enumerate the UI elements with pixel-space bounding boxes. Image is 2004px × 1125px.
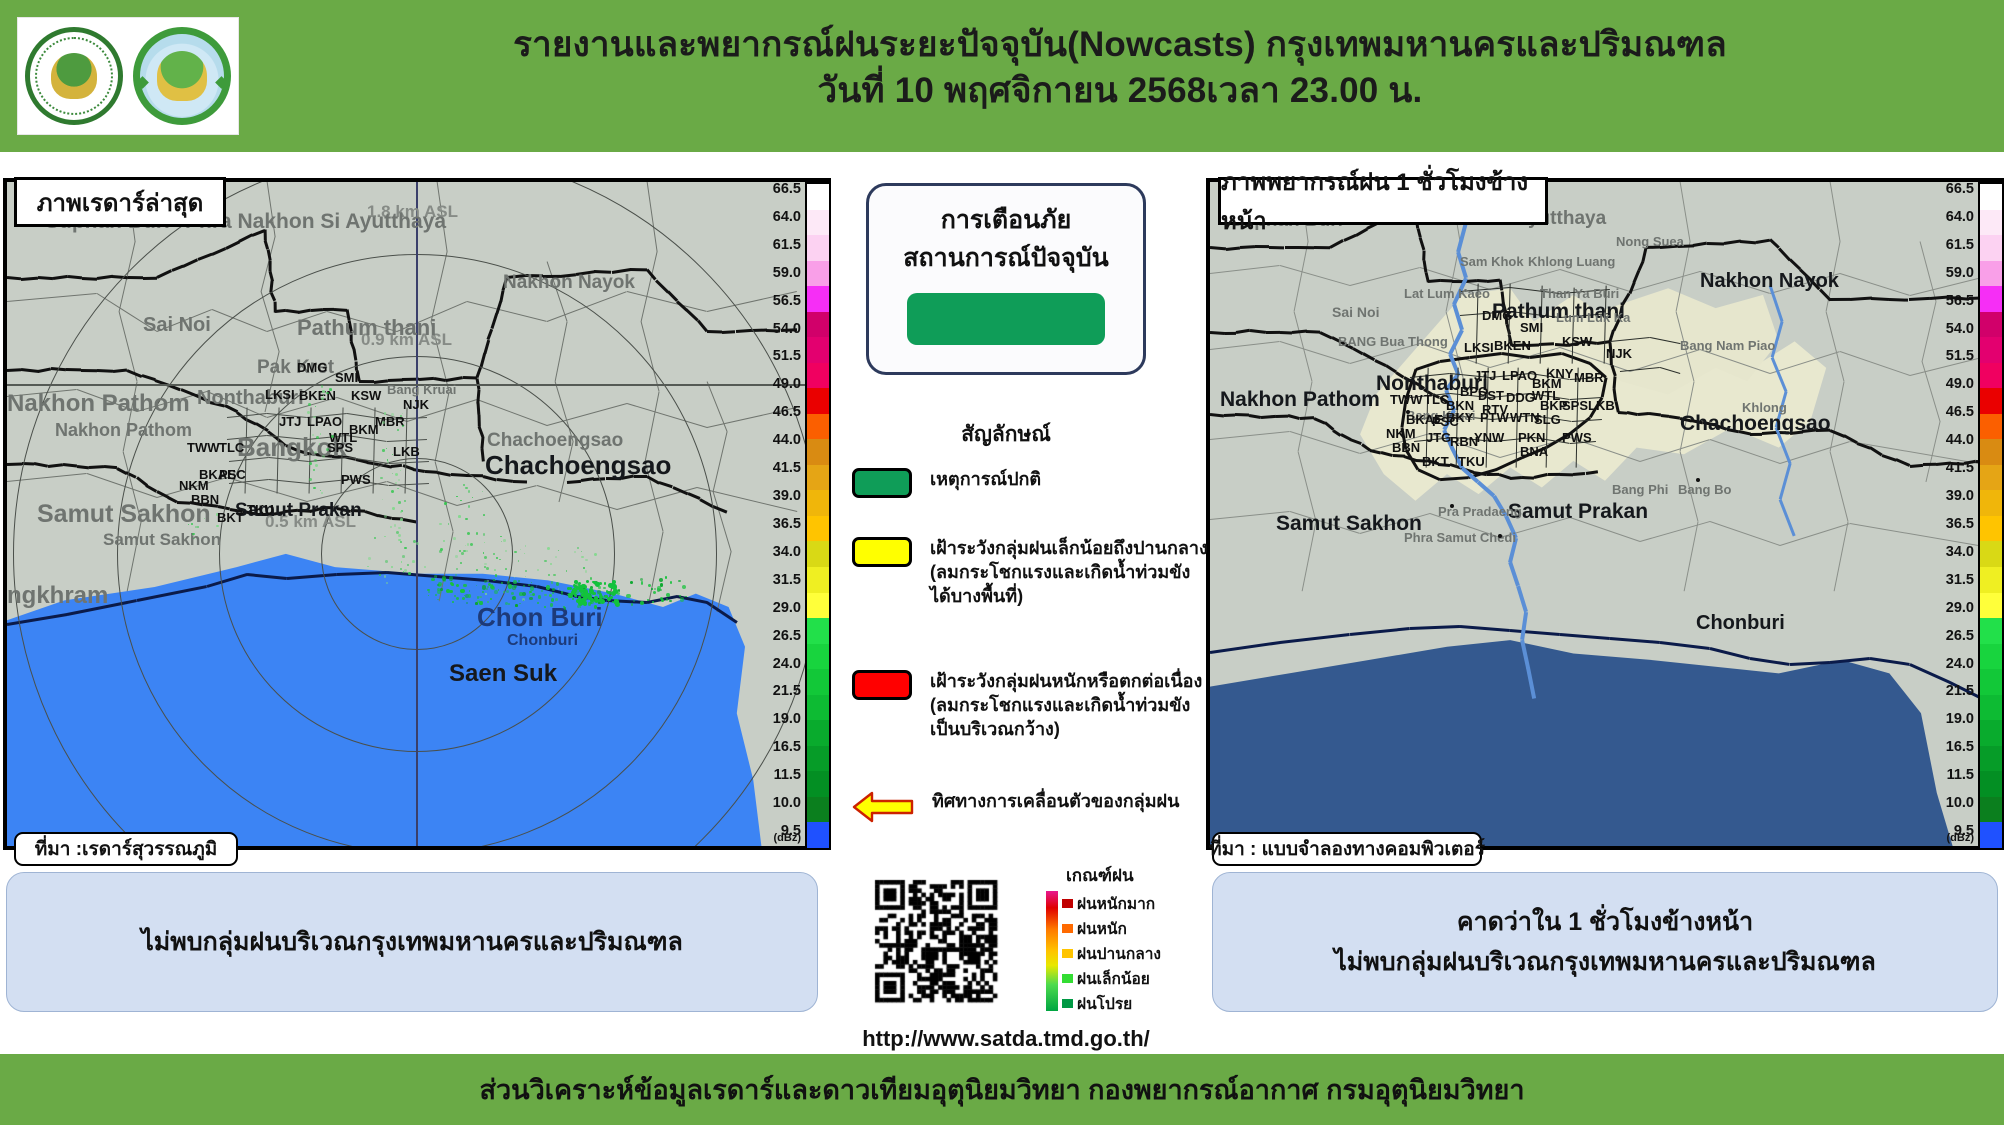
province-border	[1560, 473, 1574, 476]
dbz-tick: 16.5	[1920, 740, 1974, 755]
dbz-color-segment	[1980, 490, 2002, 516]
radar-echo	[400, 518, 403, 521]
dbz-tick: 36.5	[1920, 517, 1974, 532]
city-marker-dot	[1406, 410, 1410, 414]
footer-text: ส่วนวิเคราะห์ข้อมูลเรดาร์และดาวเทียมอุตุ…	[479, 1068, 1524, 1111]
radar-axis-vertical	[416, 182, 418, 846]
city-marker-dot	[1450, 504, 1454, 508]
dbz-color-bar	[1978, 182, 2004, 846]
radar-echo	[444, 502, 446, 504]
dbz-tick: 31.5	[1920, 573, 1974, 588]
dbz-color-segment	[1980, 771, 2002, 797]
rain-criteria-dot	[1062, 949, 1073, 958]
dbz-tick: 39.0	[1920, 489, 1974, 504]
district-code-label: BBN	[191, 492, 219, 507]
province-border	[1299, 246, 1314, 249]
radar-echo	[633, 600, 635, 602]
radar-echo	[392, 507, 395, 510]
district-code-label: PSC	[219, 467, 246, 482]
province-border	[1276, 414, 1288, 417]
rain-criteria-label: ฝนปานกลาง	[1077, 941, 1161, 966]
rain-criteria-dot	[1062, 974, 1073, 983]
dbz-color-segment	[1980, 618, 2002, 644]
radar-echo	[402, 425, 404, 427]
dbz-tick: 44.0	[1920, 433, 1974, 448]
radar-echo	[495, 580, 496, 581]
dbz-tick: 16.5	[747, 740, 801, 755]
radar-echo	[610, 596, 613, 599]
radar-altitude-label: 0.9 km ASL	[361, 330, 452, 350]
radar-echo	[431, 578, 434, 581]
radar-echo	[604, 582, 607, 585]
district-code-label: SPS	[1562, 398, 1588, 413]
radar-echo	[314, 459, 317, 462]
dbz-tick: 21.5	[747, 684, 801, 699]
dbz-tick: 36.5	[747, 517, 801, 532]
rain-criteria-item: ฝนปานกลาง	[1062, 941, 1161, 966]
radar-echo	[331, 435, 334, 438]
dbz-tick: 26.5	[1920, 629, 1974, 644]
radar-echo	[486, 588, 487, 589]
legend-label-movement: ทิศทางการเคลื่อนตัวของกลุ่มฝน	[932, 790, 1179, 814]
radar-echo	[416, 542, 419, 545]
dbz-color-segment	[807, 490, 829, 516]
radar-echo	[449, 590, 453, 594]
province-border	[1225, 331, 1236, 334]
dbz-tick: 26.5	[747, 629, 801, 644]
title-line-2: วันที่ 10 พฤศจิกายน 2568เวลา 23.00 น.	[260, 68, 1980, 114]
dbz-tick: 41.5	[1920, 461, 1974, 476]
dbz-color-segment	[1980, 567, 2002, 593]
city-marker-dot	[1498, 534, 1502, 538]
dbz-color-segment	[1980, 516, 2002, 542]
radar-echo	[309, 462, 312, 465]
dbz-color-segment	[807, 312, 829, 338]
dbz-color-segment	[1980, 720, 2002, 746]
dbz-color-segment	[807, 822, 829, 848]
radar-echo	[398, 501, 401, 504]
radar-echo	[402, 555, 405, 558]
legend-light-moderate: เฝ้าระวังกลุ่มฝนเล็กน้อยถึงปานกลาง(ลมกระ…	[852, 537, 1208, 609]
dbz-color-segment	[1980, 439, 2002, 465]
forecast-caption-line-1: คาดว่าใน 1 ชั่วโมงข้างหน้า	[1457, 902, 1753, 943]
radar-echo	[312, 434, 314, 436]
radar-echo	[682, 585, 686, 589]
page-title: รายงานและพยากรณ์ฝนระยะปัจจุบัน(Nowcasts)…	[260, 22, 1980, 114]
district-code-label: BBN	[1392, 440, 1420, 455]
province-border	[1224, 413, 1235, 417]
radar-echo	[320, 433, 321, 434]
dbz-color-segment	[1980, 414, 2002, 440]
radar-echo	[680, 597, 684, 601]
district-code-label: LKB	[393, 444, 420, 459]
district-code-label: NKM	[179, 478, 209, 493]
dbz-color-segment	[807, 286, 829, 312]
dbz-unit: (dBz)	[1947, 832, 1975, 844]
radar-echo	[479, 596, 481, 598]
province-border	[1284, 246, 1298, 249]
radar-echo	[408, 572, 410, 574]
forecast-caption-line-2: ไม่พบกลุ่มฝนบริเวณกรุงเทพมหานครและปริมณฑ…	[1334, 942, 1876, 983]
radar-echo	[482, 591, 484, 593]
radar-echo	[567, 587, 570, 590]
radar-echo	[315, 464, 318, 467]
radar-echo	[607, 591, 610, 594]
legend-swatch-green	[852, 468, 912, 498]
rain-criteria-gradient	[1046, 891, 1058, 1011]
dbz-tick-labels: 66.564.061.559.056.554.051.549.046.544.0…	[1920, 182, 1974, 846]
radar-echo	[512, 585, 516, 589]
rain-criteria-item: ฝนหนักมาก	[1062, 891, 1161, 916]
district-code-label: DST	[1478, 388, 1504, 403]
radar-echo	[661, 599, 664, 602]
province-border	[1740, 240, 1756, 244]
radar-echo	[653, 591, 656, 594]
radar-echo	[384, 515, 387, 518]
radar-echo	[316, 436, 319, 439]
radar-echo	[452, 601, 454, 603]
dbz-tick: 61.5	[747, 238, 801, 253]
radar-echo	[614, 590, 618, 594]
province-border	[1750, 432, 1762, 435]
dbz-tick: 66.5	[1920, 182, 1974, 197]
radar-echo	[391, 490, 394, 493]
district-code-label: SLG	[1534, 412, 1561, 427]
radar-echo	[386, 582, 388, 584]
radar-echo	[666, 593, 670, 597]
legend-swatch-yellow	[852, 537, 912, 567]
district-code-label: LKSI	[265, 387, 295, 402]
forecast-caption: คาดว่าใน 1 ชั่วโมงข้างหน้า ไม่พบกลุ่มฝนบ…	[1212, 872, 1998, 1012]
radar-echo	[400, 415, 402, 417]
radar-echo	[511, 592, 514, 595]
dbz-tick: 49.0	[1920, 377, 1974, 392]
dbz-color-segment	[807, 669, 829, 695]
radar-echo	[400, 568, 402, 570]
radar-echo	[652, 601, 654, 603]
dbz-color-segment	[807, 235, 829, 261]
dbz-tick: 64.0	[1920, 210, 1974, 225]
district-code-label: DMG	[1482, 308, 1512, 323]
district-code-label: SMI	[335, 370, 358, 385]
dbz-tick: 66.5	[747, 182, 801, 197]
district-code-label: BKEN	[1494, 338, 1531, 353]
province-border	[1510, 476, 1522, 480]
province-border	[82, 277, 97, 281]
legend-label-heavy: เฝ้าระวังกลุ่มฝนหนักหรือตกต่อเนื่อง(ลมกร…	[930, 670, 1202, 742]
province-border	[1871, 297, 1889, 301]
dbz-tick: 19.0	[747, 712, 801, 727]
radar-echo	[439, 523, 441, 525]
alert-status-card: การเตือนภัย สถานการณ์ปัจจุบัน	[866, 183, 1146, 375]
dbz-color-segment	[807, 797, 829, 823]
doe-seal-icon	[25, 27, 123, 125]
nowcast-page: รายงานและพยากรณ์ฝนระยะปัจจุบัน(Nowcasts)…	[0, 0, 2004, 1125]
dbz-color-segment	[807, 593, 829, 619]
radar-echo	[589, 589, 594, 594]
radar-echo	[391, 566, 393, 568]
district-code-label: PSC	[1432, 414, 1459, 429]
legend-movement-direction: ทิศทางการเคลื่อนตัวของกลุ่มฝน	[852, 790, 1179, 824]
radar-echo	[574, 585, 577, 588]
radar-echo	[395, 473, 398, 476]
rain-criteria-label: ฝนหนักมาก	[1077, 891, 1155, 916]
radar-echo	[503, 539, 506, 542]
dbz-color-segment	[1980, 261, 2002, 287]
dbz-color-segment	[807, 541, 829, 567]
radar-echo	[467, 543, 469, 545]
radar-echo	[490, 585, 494, 589]
rain-criteria-dot	[1062, 999, 1073, 1008]
dbz-tick: 19.0	[1920, 712, 1974, 727]
dbz-color-segment	[1980, 746, 2002, 772]
radar-echo	[493, 579, 495, 581]
dbz-color-segment	[807, 414, 829, 440]
dbz-tick: 54.0	[1920, 322, 1974, 337]
dbz-color-segment	[1980, 465, 2002, 491]
dbz-tick: 11.5	[1920, 768, 1974, 783]
dbz-tick: 59.0	[747, 266, 801, 281]
district-code-label: BKT	[217, 510, 244, 525]
dbz-tick: 46.5	[1920, 405, 1974, 420]
district-code-label: PWS	[1562, 430, 1592, 445]
radar-echo	[501, 582, 503, 584]
radar-altitude-label: 0.5 km ASL	[265, 512, 356, 532]
province-border	[1816, 428, 1830, 431]
dbz-tick: 34.0	[747, 545, 801, 560]
radar-echo	[382, 421, 384, 423]
district-code-label: TWW	[1390, 392, 1422, 407]
district-code-label: PTW	[1480, 410, 1509, 425]
radar-echo	[525, 570, 527, 572]
radar-echo	[468, 490, 471, 493]
radar-echo	[449, 576, 453, 580]
radar-echo	[508, 603, 510, 605]
radar-echo	[384, 412, 386, 414]
district-code-label: TWW	[187, 440, 219, 455]
radar-echo	[440, 588, 443, 591]
radar-echo	[500, 536, 501, 537]
radar-echo	[640, 601, 644, 605]
dbz-tick: 46.5	[747, 405, 801, 420]
site-url[interactable]: http://www.satda.tmd.go.th/	[806, 1026, 1206, 1052]
district-code-label: SPS	[327, 440, 353, 455]
radar-echo	[385, 560, 388, 563]
dbz-color-segment	[807, 363, 829, 389]
province-border	[1280, 331, 1292, 334]
radar-echo	[475, 602, 478, 605]
radar-dbz-scale: 66.564.061.559.056.554.051.549.046.544.0…	[745, 182, 831, 846]
radar-echo	[395, 482, 397, 484]
radar-echo	[515, 604, 518, 607]
radar-echo	[508, 584, 512, 588]
radar-echo	[556, 582, 559, 585]
dbz-tick: 29.0	[747, 601, 801, 616]
district-code-label: KSW	[1562, 334, 1592, 349]
dbz-color-segment	[807, 771, 829, 797]
dbz-tick: 10.0	[747, 796, 801, 811]
tmd-seal-icon	[133, 27, 231, 125]
radar-echo	[495, 574, 497, 576]
rain-criteria-label: ฝนหนัก	[1077, 916, 1127, 941]
radar-panel-tag: ภาพเรดาร์ล่าสุด	[14, 177, 226, 227]
province-border	[1314, 246, 1330, 249]
alert-title-line-2: สถานการณ์ปัจจุบัน	[903, 240, 1108, 278]
dbz-tick: 10.0	[1920, 796, 1974, 811]
district-code-label: MBR	[1574, 370, 1604, 385]
radar-source-tag: ที่มา :เรดาร์สุวรรณภูมิ	[14, 832, 238, 866]
forecast-dbz-scale: 66.564.061.559.056.554.051.549.046.544.0…	[1918, 182, 2004, 846]
radar-echo	[379, 574, 380, 575]
radar-echo	[398, 539, 400, 541]
district-code-label: YNW	[1474, 430, 1504, 445]
rain-criteria-item: ฝนโปรย	[1062, 991, 1161, 1016]
dbz-tick: 56.5	[747, 294, 801, 309]
province-border	[1889, 298, 1908, 302]
alert-title-line-1: การเตือนภัย	[941, 202, 1072, 240]
dbz-color-segment	[807, 746, 829, 772]
radar-echo	[404, 547, 407, 550]
district-code-label: BNA	[1520, 444, 1548, 459]
radar-echo	[513, 580, 517, 584]
dbz-tick: 41.5	[747, 461, 801, 476]
radar-echo	[615, 602, 620, 607]
radar-echo	[446, 589, 450, 593]
radar-map-panel[interactable]: 1.8 km ASL0.9 km ASL0.5 km ASLSuphan Bur…	[3, 178, 831, 850]
radar-echo	[483, 514, 485, 516]
city-marker-dot	[1696, 478, 1700, 482]
district-code-label: LKSI	[1464, 340, 1494, 355]
province-border	[1269, 246, 1284, 250]
radar-echo	[584, 592, 589, 597]
dbz-color-segment	[1980, 363, 2002, 389]
dbz-tick: 34.0	[1920, 545, 1974, 560]
radar-echo	[494, 569, 496, 571]
district-code-label: KSW	[351, 388, 381, 403]
radar-echo	[412, 560, 415, 563]
radar-echo	[563, 606, 565, 608]
dbz-color-segment	[1980, 822, 2002, 848]
radar-echo	[487, 586, 489, 588]
radar-echo	[518, 580, 520, 582]
radar-echo	[483, 533, 486, 536]
dbz-color-segment	[807, 644, 829, 670]
province-border	[1660, 414, 1668, 418]
radar-echo	[607, 604, 609, 606]
dbz-color-segment	[807, 720, 829, 746]
rain-criteria-label: ฝนโปรย	[1077, 991, 1132, 1016]
radar-echo	[319, 443, 320, 444]
district-code-label: NJK	[1606, 346, 1632, 361]
district-code-label: JTJ	[1474, 368, 1496, 383]
page-header: รายงานและพยากรณ์ฝนระยะปัจจุบัน(Nowcasts)…	[0, 0, 2004, 152]
dbz-color-segment	[1980, 337, 2002, 363]
dbz-tick: 61.5	[1920, 238, 1974, 253]
forecast-map-surface[interactable]: Suphan BuriPhra Nakhon Si AyutthayaNong …	[1210, 182, 2000, 846]
dbz-tick: 64.0	[747, 210, 801, 225]
dbz-color-segment	[1980, 669, 2002, 695]
radar-echo	[456, 597, 459, 600]
dbz-color-segment	[807, 388, 829, 414]
legend-label-normal: เหตุการณ์ปกติ	[930, 468, 1041, 492]
radar-echo	[476, 532, 478, 534]
forecast-panel-tag: ภาพพยากรณ์ฝน 1 ชั่วโมงข้างหน้า	[1218, 177, 1548, 225]
dbz-color-segment	[807, 618, 829, 644]
dbz-color-segment	[1980, 644, 2002, 670]
dbz-color-segment	[807, 261, 829, 287]
forecast-map-panel[interactable]: Suphan BuriPhra Nakhon Si AyutthayaNong …	[1206, 178, 2004, 850]
district-code-label: TKU	[247, 502, 274, 517]
radar-echo	[479, 601, 482, 604]
dbz-tick: 51.5	[747, 349, 801, 364]
radar-echo	[442, 576, 446, 580]
dbz-color-segment	[1980, 388, 2002, 414]
radar-echo	[368, 557, 371, 560]
agency-logos	[17, 17, 239, 135]
radar-echo	[599, 593, 602, 596]
dbz-color-bar	[805, 182, 831, 846]
radar-echo	[503, 591, 505, 593]
province-border	[7, 462, 22, 466]
radar-echo	[685, 596, 687, 598]
dbz-color-segment	[1980, 593, 2002, 619]
dbz-tick: 39.0	[747, 489, 801, 504]
radar-echo	[551, 598, 555, 602]
district-code-label: BKM	[349, 422, 379, 437]
qr-code[interactable]	[846, 866, 1026, 1016]
radar-echo	[641, 583, 643, 585]
dbz-color-segment	[1980, 235, 2002, 261]
dbz-tick: 44.0	[747, 433, 801, 448]
radar-echo	[397, 429, 399, 431]
rain-criteria-dot	[1062, 924, 1073, 933]
dbz-tick: 21.5	[1920, 684, 1974, 699]
radar-echo	[583, 601, 588, 606]
rain-criteria-item: ฝนหนัก	[1062, 916, 1161, 941]
dbz-color-segment	[1980, 210, 2002, 236]
district-code-label: SMI	[1520, 320, 1543, 335]
qr-code-canvas[interactable]	[846, 866, 1026, 1016]
dbz-color-segment	[807, 567, 829, 593]
radar-echo	[555, 598, 558, 601]
district-code-label: TLC	[219, 440, 244, 455]
radar-echo	[523, 585, 525, 587]
radar-echo	[499, 559, 500, 560]
district-code-label: DDG	[1506, 390, 1535, 405]
dbz-tick: 29.0	[1920, 601, 1974, 616]
dbz-tick: 24.0	[1920, 657, 1974, 672]
district-code-label: LKB	[1588, 398, 1615, 413]
dbz-color-segment	[1980, 312, 2002, 338]
dbz-color-segment	[807, 695, 829, 721]
radar-echo	[614, 599, 617, 602]
district-code-label: LPAO	[307, 414, 342, 429]
legend-swatch-red	[852, 670, 912, 700]
radar-axis-horizontal	[7, 384, 827, 386]
radar-map-surface[interactable]: 1.8 km ASL0.9 km ASL0.5 km ASLSuphan Bur…	[7, 182, 827, 846]
radar-echo	[467, 532, 470, 535]
radar-echo	[461, 552, 464, 555]
radar-echo	[486, 567, 489, 570]
radar-echo	[192, 533, 194, 535]
radar-echo	[394, 524, 396, 526]
dbz-color-segment	[1980, 184, 2002, 210]
radar-echo	[382, 449, 385, 452]
radar-echo	[391, 413, 394, 416]
radar-echo	[456, 568, 458, 570]
radar-echo	[552, 588, 555, 591]
radar-echo	[465, 487, 468, 490]
